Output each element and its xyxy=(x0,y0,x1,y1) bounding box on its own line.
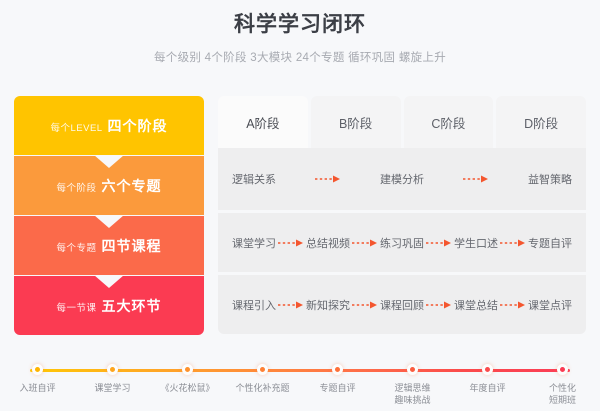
stage-cell[interactable]: 课堂学习 xyxy=(232,235,276,251)
page-subtitle: 每个级别 4个阶段 3大模块 24个专题 循环巩固 螺旋上升 xyxy=(0,49,600,65)
tab-stage-A阶段[interactable]: A阶段 xyxy=(218,96,308,148)
content-body: 每个LEVEL 四个阶段每个阶段 六个专题每个专题 四节课程每一节课 五大环节 … xyxy=(14,96,586,336)
dashed-arrow-right-icon xyxy=(424,301,454,309)
chevron-down-icon xyxy=(94,155,124,168)
stage-cell[interactable]: 课堂点评 xyxy=(528,297,572,313)
timeline-dot-icon xyxy=(407,364,418,375)
funnel-band-value: 四节课程 xyxy=(97,238,162,254)
dashed-arrow-right-icon xyxy=(498,239,528,247)
timeline-node[interactable]: 个性化补充题 xyxy=(225,352,300,411)
timeline-dot-icon xyxy=(32,364,43,375)
timeline-node-label: 个性化补充题 xyxy=(235,382,289,394)
stage-cell[interactable]: 专题自评 xyxy=(528,235,572,251)
stage-cell[interactable]: 建模分析 xyxy=(380,171,424,187)
stage-cell[interactable]: 总结视频 xyxy=(306,235,350,251)
stage-grid-panel: A阶段B阶段C阶段D阶段 逻辑关系建模分析益智策略课堂学习总结视频练习巩固学生口… xyxy=(218,96,586,336)
stage-row-items: 课程引入新知探究课程回顾课堂总结课堂点评 xyxy=(232,297,572,313)
dashed-arrow-right-icon xyxy=(276,239,306,247)
funnel-band-value: 五大环节 xyxy=(97,298,162,314)
funnel-band-label: 每个LEVEL 四个阶段 xyxy=(51,116,168,136)
timeline-dot-icon xyxy=(107,364,118,375)
funnel-band: 每个阶段 六个专题 xyxy=(14,156,204,215)
funnel-band-prefix: 每个阶段 xyxy=(57,183,97,194)
stage-rows: 逻辑关系建模分析益智策略课堂学习总结视频练习巩固学生口述专题自评课程引入新知探究… xyxy=(218,148,586,334)
funnel-band: 每个LEVEL 四个阶段 xyxy=(14,96,204,155)
funnel-band-label: 每一节课 五大环节 xyxy=(57,296,162,316)
stage-row: 课堂学习总结视频练习巩固学生口述专题自评 xyxy=(218,210,586,272)
timeline-node[interactable]: 个性化 短期班 xyxy=(525,352,600,411)
funnel-band-value: 六个专题 xyxy=(97,178,162,194)
dashed-arrow-right-icon xyxy=(424,239,454,247)
timeline-node[interactable]: 《火花松鼠》 xyxy=(150,352,225,411)
funnel-band: 每个专题 四节课程 xyxy=(14,216,204,275)
timeline-dot-icon xyxy=(257,364,268,375)
stage-tabs: A阶段B阶段C阶段D阶段 xyxy=(218,96,586,148)
timeline-node-label: 专题自评 xyxy=(319,382,355,394)
timeline-node-label: 年度自评 xyxy=(469,382,505,394)
timeline-dot-icon xyxy=(482,364,493,375)
stage-cell[interactable]: 逻辑关系 xyxy=(232,171,276,187)
chevron-down-icon xyxy=(94,215,124,228)
page-title: 科学学习闭环 xyxy=(0,10,600,40)
timeline-node[interactable]: 入班自评 xyxy=(0,352,75,411)
funnel-band-label: 每个专题 四节课程 xyxy=(57,236,162,256)
stage-row-items: 逻辑关系建模分析益智策略 xyxy=(232,171,572,187)
timeline-nodes: 入班自评课堂学习《火花松鼠》个性化补充题专题自评逻辑思维 趣味挑战年度自评个性化… xyxy=(0,352,600,411)
stage-cell[interactable]: 课程回顾 xyxy=(380,297,424,313)
dashed-arrow-right-icon xyxy=(276,175,380,183)
stage-row: 逻辑关系建模分析益智策略 xyxy=(218,148,586,210)
timeline-node[interactable]: 年度自评 xyxy=(450,352,525,411)
funnel-band-prefix: 每个专题 xyxy=(57,243,97,254)
timeline-node[interactable]: 专题自评 xyxy=(300,352,375,411)
stage-row-items: 课堂学习总结视频练习巩固学生口述专题自评 xyxy=(232,235,572,251)
tab-stage-D阶段[interactable]: D阶段 xyxy=(496,96,586,148)
funnel-panel: 每个LEVEL 四个阶段每个阶段 六个专题每个专题 四节课程每一节课 五大环节 xyxy=(14,96,204,336)
stage-cell[interactable]: 新知探究 xyxy=(306,297,350,313)
dashed-arrow-right-icon xyxy=(350,239,380,247)
page-root: 科学学习闭环 每个级别 4个阶段 3大模块 24个专题 循环巩固 螺旋上升 每个… xyxy=(0,0,600,411)
timeline-node[interactable]: 课堂学习 xyxy=(75,352,150,411)
funnel-band-value: 四个阶段 xyxy=(103,118,168,134)
timeline-node-label: 《火花松鼠》 xyxy=(160,382,214,394)
stage-cell[interactable]: 益智策略 xyxy=(528,171,572,187)
funnel-band-prefix: 每个LEVEL xyxy=(51,123,103,134)
dashed-arrow-right-icon xyxy=(498,301,528,309)
timeline-dot-icon xyxy=(332,364,343,375)
dashed-arrow-right-icon xyxy=(424,175,528,183)
timeline-dot-icon xyxy=(182,364,193,375)
timeline-node-label: 个性化 短期班 xyxy=(549,382,576,406)
stage-cell[interactable]: 学生口述 xyxy=(454,235,498,251)
timeline-node[interactable]: 逻辑思维 趣味挑战 xyxy=(375,352,450,411)
learning-timeline: 入班自评课堂学习《火花松鼠》个性化补充题专题自评逻辑思维 趣味挑战年度自评个性化… xyxy=(0,352,600,411)
header: 科学学习闭环 每个级别 4个阶段 3大模块 24个专题 循环巩固 螺旋上升 xyxy=(0,0,600,65)
timeline-node-label: 逻辑思维 趣味挑战 xyxy=(394,382,430,406)
timeline-dot-icon xyxy=(557,364,568,375)
timeline-node-label: 入班自评 xyxy=(19,382,55,394)
dashed-arrow-right-icon xyxy=(276,301,306,309)
dashed-arrow-right-icon xyxy=(350,301,380,309)
stage-cell[interactable]: 课堂总结 xyxy=(454,297,498,313)
tab-stage-B阶段[interactable]: B阶段 xyxy=(311,96,401,148)
timeline-node-label: 课堂学习 xyxy=(94,382,130,394)
funnel-band: 每一节课 五大环节 xyxy=(14,276,204,335)
funnel-band-label: 每个阶段 六个专题 xyxy=(57,176,162,196)
chevron-down-icon xyxy=(94,275,124,288)
funnel-band-prefix: 每一节课 xyxy=(57,303,97,314)
stage-cell[interactable]: 课程引入 xyxy=(232,297,276,313)
stage-cell[interactable]: 练习巩固 xyxy=(380,235,424,251)
stage-row: 课程引入新知探究课程回顾课堂总结课堂点评 xyxy=(218,272,586,334)
tab-stage-C阶段[interactable]: C阶段 xyxy=(404,96,494,148)
